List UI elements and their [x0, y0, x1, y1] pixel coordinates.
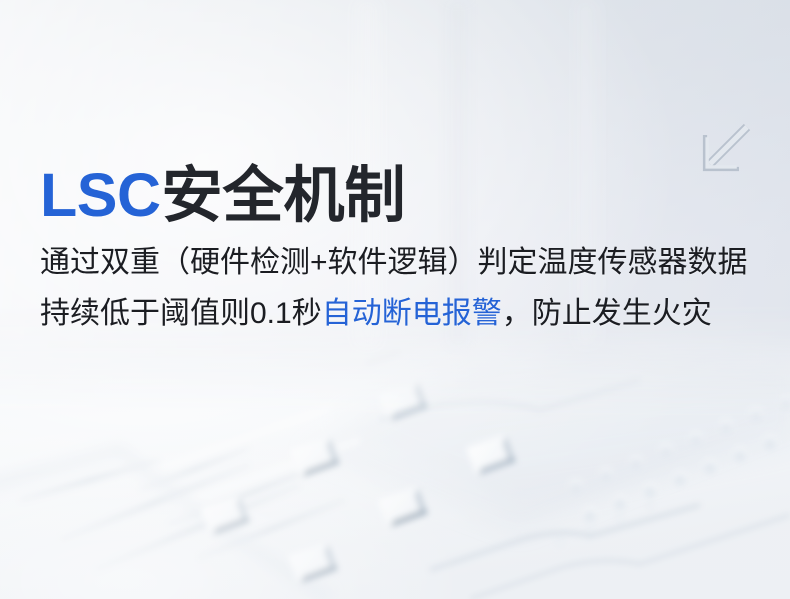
subtitle-line-2: 持续低于阈值则0.1秒自动断电报警，防止发生火灾 [40, 288, 748, 339]
circuit-board-illustration [0, 300, 790, 599]
subtitle-highlight: 自动断电报警 [322, 297, 502, 330]
arrow-down-left-icon [697, 121, 753, 177]
subtitle-line-2-suffix: ，防止发生火灾 [502, 297, 712, 330]
page-subtitle: 通过双重（硬件检测+软件逻辑）判定温度传感器数据 持续低于阈值则0.1秒自动断电… [40, 237, 748, 339]
subtitle-line-1: 通过双重（硬件检测+软件逻辑）判定温度传感器数据 [40, 237, 748, 288]
lsc-safety-banner: LSC安全机制 通过双重（硬件检测+软件逻辑）判定温度传感器数据 持续低于阈值则… [0, 0, 790, 599]
circuit-board-backdrop [0, 300, 790, 599]
page-title: LSC安全机制 [40, 159, 406, 231]
brand-name: LSC [40, 161, 161, 229]
page-title-text: 安全机制 [162, 161, 406, 229]
subtitle-line-2-prefix: 持续低于阈值则0.1秒 [40, 297, 322, 330]
